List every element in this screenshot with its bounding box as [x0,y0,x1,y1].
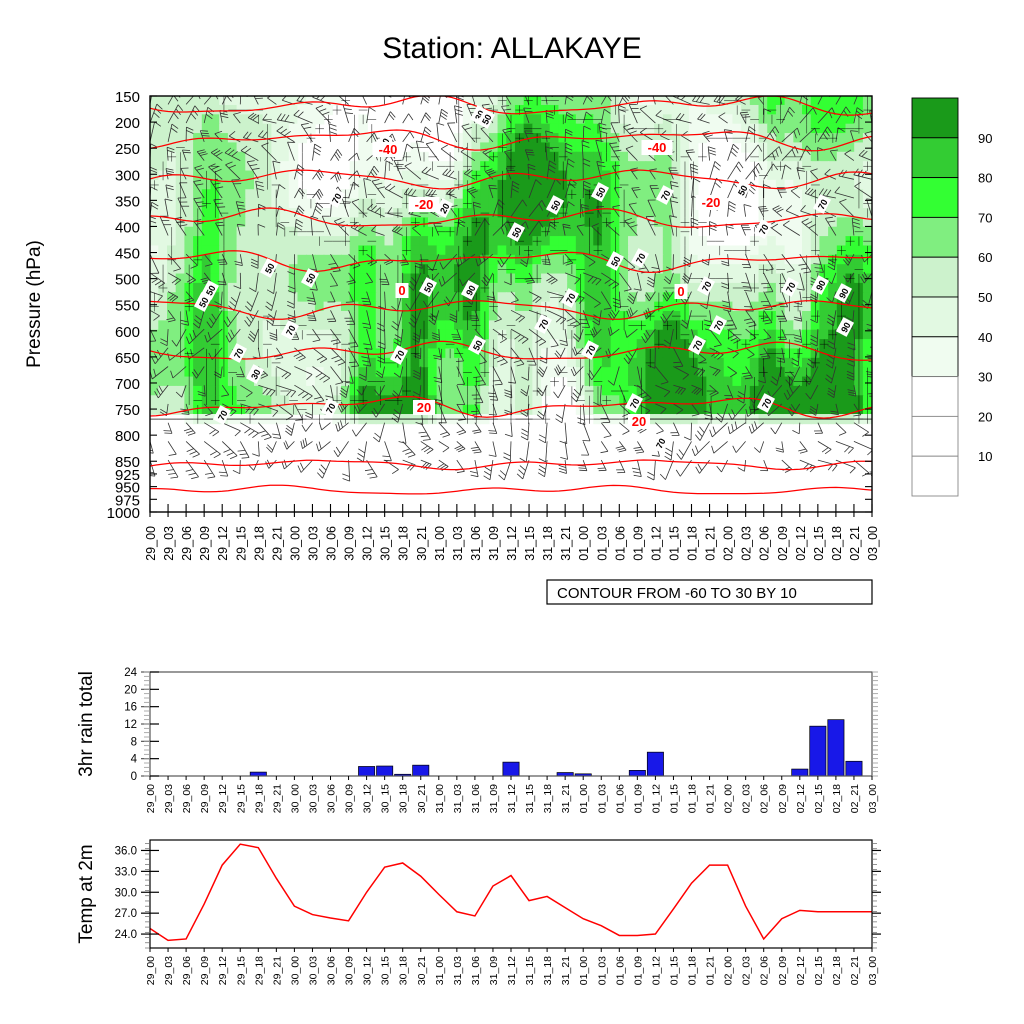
temp-axis-label: Temp at 2m [76,844,97,943]
temp-panel: 24.027.030.033.036.0 29_0029_0329_0629_0… [76,840,881,985]
contour-note-text: CONTOUR FROM -60 TO 30 BY 10 [557,585,797,602]
contour-note-box: CONTOUR FROM -60 TO 30 BY 10 [547,580,872,604]
time-axis-rain: 29_0029_0329_0629_0929_1229_1529_1829_21… [145,776,879,813]
meteogram-page: Station: ALLAKAYE 5050703070703070507020… [0,0,1024,1024]
meteogram-svg: 5050703070703070507020305090505070705050… [0,0,1024,1024]
relative-humidity-colorbar: 102030405060708090 [912,98,992,496]
time-axis-temp: 29_0029_0329_0629_0929_1229_1529_1829_21… [145,948,879,985]
rain-axis-label: 3hr rain total [76,671,97,777]
cross-section-panel: 5050703070703070507020305090505070705050… [24,85,889,560]
rain-panel: 04812162024 29_0029_0329_0629_0929_1229_… [76,667,879,813]
pressure-axis-label: Pressure (hPa) [24,240,45,368]
